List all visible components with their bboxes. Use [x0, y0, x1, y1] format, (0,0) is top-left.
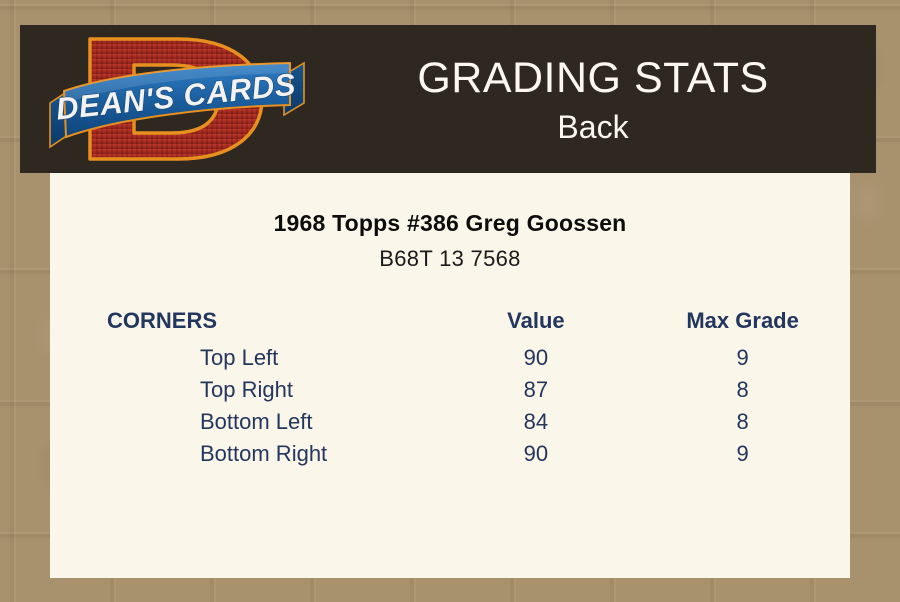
row-max-grade: 9 — [635, 438, 850, 470]
table-body: Top Left 90 9 Top Right 87 8 Bottom Left… — [50, 342, 850, 470]
table-row: Top Right 87 8 — [50, 374, 850, 406]
header-bar: DEAN'S CARDS GRADING STATS Back — [20, 25, 876, 173]
table-row: Bottom Left 84 8 — [50, 406, 850, 438]
row-value: 87 — [437, 374, 636, 406]
card-title: 1968 Topps #386 Greg Goossen — [50, 210, 850, 237]
row-label: Top Right — [50, 374, 437, 406]
table-row: Top Left 90 9 — [50, 342, 850, 374]
header-titles: GRADING STATS Back — [320, 53, 866, 147]
row-label: Top Left — [50, 342, 437, 374]
row-value: 84 — [437, 406, 636, 438]
table-header-row: CORNERS Value Max Grade — [50, 308, 850, 342]
row-value: 90 — [437, 438, 636, 470]
row-label: Bottom Right — [50, 438, 437, 470]
deans-cards-logo[interactable]: DEAN'S CARDS — [46, 29, 308, 169]
row-max-grade: 8 — [635, 406, 850, 438]
row-label: Bottom Left — [50, 406, 437, 438]
grading-stats-table: CORNERS Value Max Grade Top Left 90 9 To… — [50, 308, 850, 470]
content-panel: 1968 Topps #386 Greg Goossen B68T 13 756… — [50, 173, 850, 578]
table-row: Bottom Right 90 9 — [50, 438, 850, 470]
page-subtitle: Back — [320, 107, 866, 147]
row-value: 90 — [437, 342, 636, 374]
page-title: GRADING STATS — [320, 53, 866, 103]
card-id: B68T 13 7568 — [50, 246, 850, 272]
column-header-corners: CORNERS — [50, 308, 437, 342]
row-max-grade: 8 — [635, 374, 850, 406]
column-header-value: Value — [437, 308, 636, 342]
column-header-max-grade: Max Grade — [635, 308, 850, 342]
row-max-grade: 9 — [635, 342, 850, 374]
